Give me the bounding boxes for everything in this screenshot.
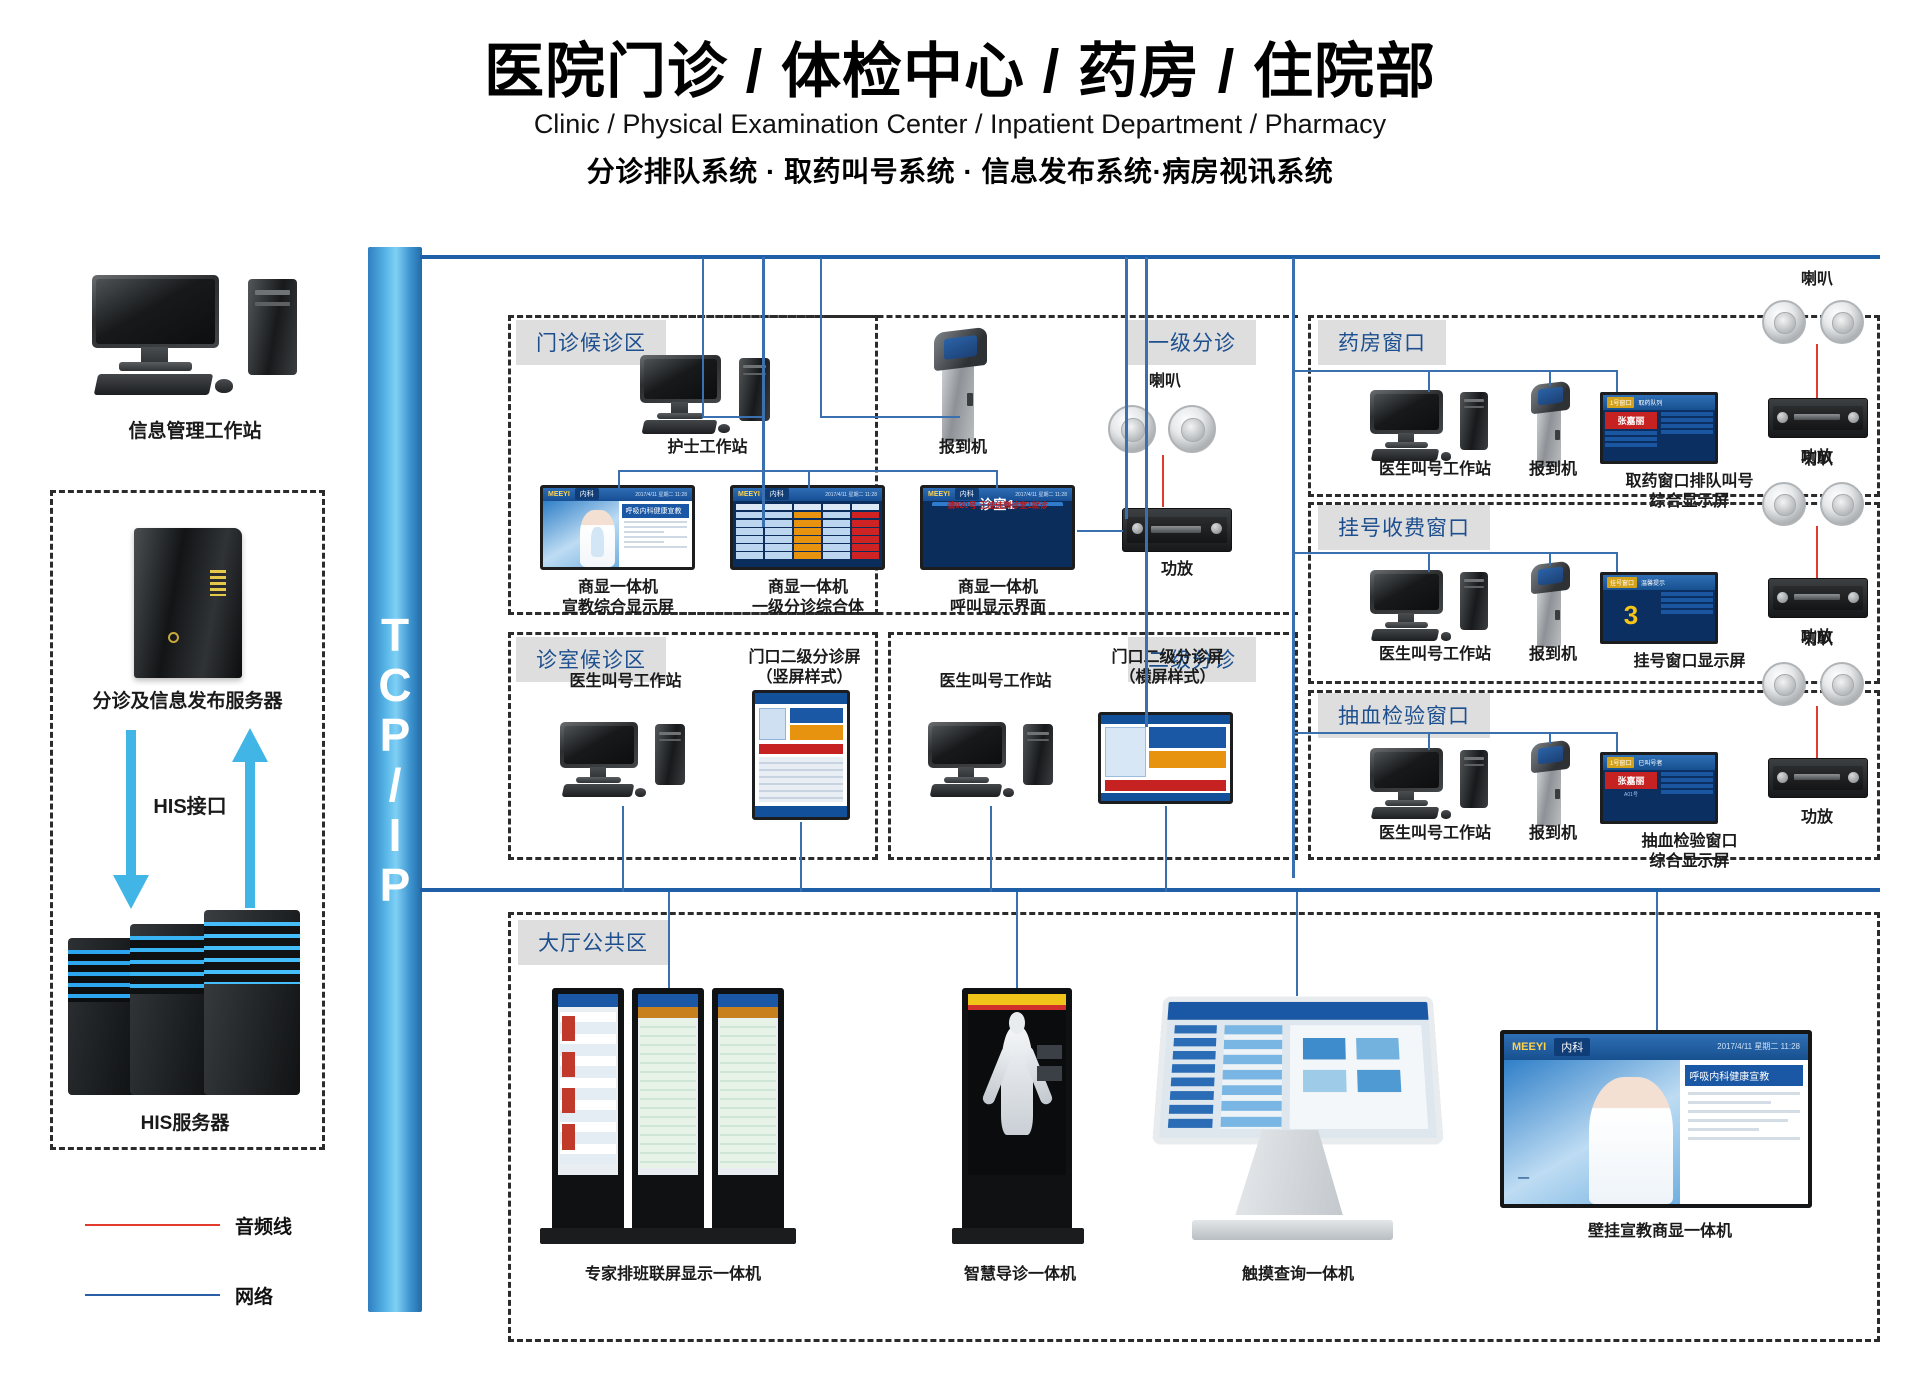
promo-headline: 呼吸内科健康宣教	[622, 504, 689, 518]
doctor-call-workstation-label-2: 医生叫号工作站	[898, 672, 1093, 692]
title-english: Clinic / Physical Examination Center / I…	[0, 109, 1920, 140]
net-line-kiosk-h	[820, 416, 960, 418]
checkin-kiosk-label-1: 报到机	[908, 438, 1018, 458]
legend-audio-line-swatch	[85, 1224, 220, 1226]
net-drop-hall-posters	[668, 892, 670, 988]
net-drop-pharmacy-pc	[1428, 370, 1430, 392]
screen-logo-1: MEEYI	[548, 491, 570, 498]
registration-display-label: 挂号窗口显示屏	[1592, 652, 1787, 672]
pharmacy-call-workstation-label: 医生叫号工作站	[1340, 460, 1530, 480]
net-line-trunk-to-kiosk	[820, 258, 822, 416]
speaker-label-registration: 喇叭	[1772, 450, 1862, 470]
net-drop-hall-guidance	[1016, 892, 1018, 988]
net-drop-bloodtest-display	[1616, 732, 1618, 752]
smart-guidance-kiosk	[962, 988, 1072, 1238]
net-line-pharmacy-branch	[1292, 370, 1618, 372]
net-line-nurse-pc-h	[702, 416, 764, 418]
speaker-icon-bloodtest-2	[1820, 662, 1864, 706]
speaker-label-bloodtest: 喇叭	[1772, 630, 1862, 650]
smart-guidance-kiosk-label: 智慧导诊一体机	[930, 1265, 1110, 1285]
speaker-icon-registration-1	[1762, 482, 1806, 526]
zone-title-pharmacy-window: 药房窗口	[1318, 320, 1446, 365]
registration-call-workstation-label: 医生叫号工作站	[1340, 645, 1530, 665]
net-drop-screen-2	[808, 470, 810, 488]
checkin-kiosk-label-bloodtest: 报到机	[1505, 824, 1601, 844]
trunk-line-bottom	[420, 888, 1880, 892]
trunk-line-top	[420, 255, 1880, 259]
net-drop-registration-pc	[1428, 552, 1430, 572]
his-arrow-up-shaft	[245, 760, 255, 908]
audio-line-registration	[1816, 526, 1818, 578]
horizontal-triage-screen	[1098, 712, 1233, 804]
diagram-canvas: 医院门诊 / 体检中心 / 药房 / 住院部 Clinic / Physical…	[0, 0, 1920, 1375]
amplifier-icon-outpatient	[1122, 508, 1232, 552]
smart-guidance-base	[952, 1228, 1084, 1244]
call-display-label-line1: 商显一体机	[898, 578, 1098, 598]
zone-title-registration-window: 挂号收费窗口	[1318, 505, 1490, 550]
net-line-trunk-to-nurse-pc	[702, 258, 704, 416]
screen-dept-1: 内科	[575, 488, 599, 500]
speaker-icon-outpatient-1	[1108, 405, 1156, 453]
net-drop-pharmacy-display	[1616, 370, 1618, 392]
net-drop-bloodtest-pc	[1428, 732, 1430, 750]
horizontal-triage-label-line1: 门口二级分诊屏	[1070, 648, 1265, 668]
his-arrow-down-head	[113, 875, 149, 909]
net-line-trunk-to-screens	[762, 257, 765, 527]
net-line-trunk-to-secondary	[1125, 257, 1128, 519]
bloodtest-window-tag: 1号窗口	[1607, 757, 1634, 768]
tcpip-backbone-label: T C P / I P	[368, 610, 422, 910]
expert-schedule-poster-2	[632, 988, 704, 1238]
bloodtest-call-workstation-icon	[1370, 748, 1488, 826]
net-drop-hall-wall	[1656, 892, 1658, 1030]
registration-call-workstation-icon	[1370, 570, 1488, 648]
promo-display-label-line2: 宣教综合显示屏	[518, 598, 718, 618]
zone-title-public-hall: 大厅公共区	[518, 920, 668, 965]
checkin-kiosk-icon-registration	[1528, 563, 1572, 647]
title-chinese: 医院门诊 / 体检中心 / 药房 / 住院部	[0, 38, 1920, 105]
amplifier-icon-bloodtest	[1768, 758, 1868, 798]
touch-query-kiosk-label: 触摸查询一体机	[1178, 1265, 1418, 1285]
horizontal-triage-label-line2: （横屏样式）	[1070, 668, 1265, 688]
triage-table-screen: MEEYI 内科 2017/4/11 星期二 11:28	[730, 485, 885, 570]
audio-line-pharmacy	[1816, 344, 1818, 398]
wall-education-screen: MEEYI 内科 2017/4/11 星期二 11:28 — 呼吸内科健康宣教	[1500, 1030, 1812, 1208]
bloodtest-display-label-line1: 抽血检验窗口	[1592, 832, 1787, 852]
checkin-kiosk-icon-pharmacy	[1528, 383, 1572, 467]
promo-display-screen: MEEYI 内科 2017/4/11 星期二 11:28 呼吸内科健康宣教	[540, 485, 695, 570]
his-arrow-up-head	[232, 728, 268, 762]
doctor-call-workstation-icon-2	[928, 722, 1053, 804]
legend-network-line-label: 网络	[235, 1282, 273, 1309]
vertical-triage-label-line2: （竖屏样式）	[722, 668, 887, 688]
screen-logo-2: MEEYI	[738, 491, 760, 498]
amplifier-icon-registration	[1768, 578, 1868, 618]
net-drop-registration-kiosk	[1549, 552, 1551, 566]
triage-server-label: 分诊及信息发布服务器	[45, 690, 330, 714]
bloodtest-highlight-name: 张嘉丽	[1605, 772, 1657, 789]
pharmacy-window-tag: 1号窗口	[1607, 397, 1634, 408]
net-line-doctor-pc-2-down	[990, 806, 992, 892]
touch-query-kiosk	[1158, 990, 1438, 1240]
backbone-char-slash: /	[368, 760, 422, 810]
amplifier-icon-pharmacy	[1768, 398, 1868, 438]
backbone-char-p2: P	[368, 860, 422, 910]
pharmacy-display-label-line1: 取药窗口排队叫号	[1592, 472, 1787, 492]
screen-dept-2: 内科	[765, 488, 789, 500]
net-line-trunk-to-triage2	[1145, 257, 1148, 727]
screen-time-1: 2017/4/11 星期二 11:28	[635, 491, 687, 498]
pharmacy-highlight-name: 张嘉丽	[1605, 412, 1657, 429]
speaker-label-pharmacy: 喇叭	[1772, 270, 1862, 290]
amplifier-label-bloodtest: 功放	[1772, 808, 1862, 828]
registration-queue-display-screen: 挂号窗口 温馨提示 3	[1600, 572, 1718, 644]
screen-time-2: 2017/4/11 星期二 11:28	[825, 491, 877, 498]
expert-schedule-poster-1	[552, 988, 624, 1238]
net-drop-screen-3	[996, 470, 998, 488]
net-line-bloodtest-branch	[1292, 732, 1618, 734]
checkin-kiosk-label-registration: 报到机	[1505, 645, 1601, 665]
his-server-label: HIS服务器	[60, 1112, 310, 1136]
speaker-icon-bloodtest-1	[1762, 662, 1806, 706]
registration-window-note: 温馨提示	[1641, 578, 1665, 587]
call-display-label-line2: 呼叫显示界面	[898, 598, 1098, 618]
vertical-triage-label-line1: 门口二级分诊屏	[722, 648, 887, 668]
registration-window-tag: 挂号窗口	[1607, 577, 1637, 588]
pharmacy-queue-display-screen: 1号窗口 取药队列 张嘉丽	[1600, 392, 1718, 464]
bloodtest-call-workstation-label: 医生叫号工作站	[1340, 824, 1530, 844]
his-server-icon	[68, 910, 303, 1095]
speaker-icon-pharmacy-2	[1820, 300, 1864, 344]
net-line-doctor-pc-1-down	[622, 806, 624, 892]
checkin-kiosk-icon-1	[930, 330, 990, 442]
net-line-horizontal-screen-down	[1165, 806, 1167, 892]
net-line-registration-branch	[1292, 552, 1618, 554]
net-line-right-column-riser	[1292, 258, 1295, 878]
info-management-workstation-label: 信息管理工作站	[60, 420, 330, 444]
net-drop-pharmacy-kiosk	[1549, 370, 1551, 386]
bloodtest-sub-number: A01号	[1605, 791, 1657, 798]
net-drop-registration-display	[1616, 552, 1618, 572]
vertical-triage-screen	[752, 690, 850, 820]
registration-current-number: 3	[1605, 602, 1657, 628]
expert-poster-base	[540, 1228, 796, 1244]
triage-server-icon	[134, 528, 242, 678]
speaker-label-outpatient: 喇叭	[1120, 372, 1210, 392]
net-drop-screen-1	[618, 470, 620, 488]
net-line-call-to-amp	[1077, 530, 1123, 532]
nurse-workstation-icon	[640, 355, 770, 441]
screen-logo-3: MEEYI	[928, 491, 950, 498]
pharmacy-queue-title: 取药队列	[1638, 398, 1662, 407]
legend-audio-line-label: 音频线	[235, 1212, 292, 1239]
backbone-char-i: I	[368, 810, 422, 860]
expert-schedule-poster-3	[712, 988, 784, 1238]
speaker-icon-pharmacy-1	[1762, 300, 1806, 344]
call-message: 请020号·王佳佳到诊室1就诊	[932, 504, 1063, 506]
title-subtitle: 分诊排队系统 · 取药叫号系统 · 信息发布系统·病房视讯系统	[0, 150, 1920, 190]
promo-display-label-line1: 商显一体机	[518, 578, 718, 598]
bloodtest-queue-title: 已叫号者	[1638, 758, 1662, 767]
nurse-workstation-label: 护士工作站	[620, 438, 795, 458]
checkin-kiosk-icon-bloodtest	[1528, 742, 1572, 826]
backbone-char-c: C	[368, 660, 422, 710]
doctor-call-workstation-label-1: 医生叫号工作站	[528, 672, 723, 692]
his-interface-label: HIS接口	[110, 795, 270, 821]
net-drop-hall-touch	[1296, 892, 1298, 996]
triage-table-label-line1: 商显一体机	[708, 578, 908, 598]
expert-schedule-poster-label: 专家排班联屏显示一体机	[528, 1265, 818, 1285]
triage-table-label-line2: 一级分诊综合体	[708, 598, 908, 618]
wall-education-screen-label: 壁挂宣教商显一体机	[1540, 1222, 1780, 1242]
wall-screen-logo: MEEYI	[1512, 1041, 1546, 1053]
net-drop-bloodtest-kiosk	[1549, 732, 1551, 744]
net-line-vertical-screen-down	[800, 822, 802, 892]
wall-screen-headline: 呼吸内科健康宣教	[1685, 1065, 1803, 1086]
bloodtest-queue-display-screen: 1号窗口 已叫号者 张嘉丽 A01号	[1600, 752, 1718, 824]
wall-screen-dept: 内科	[1554, 1038, 1590, 1056]
call-display-screen: MEEYI 内科 2017/4/11 星期二 11:28 诊室1 请020号·王…	[920, 485, 1075, 570]
page-title: 医院门诊 / 体检中心 / 药房 / 住院部 Clinic / Physical…	[0, 38, 1920, 190]
screen-dept-3: 内科	[955, 488, 979, 500]
screen-time-3: 2017/4/11 星期二 11:28	[1015, 491, 1067, 498]
legend-network-line-swatch	[85, 1294, 220, 1296]
speaker-icon-outpatient-2	[1168, 405, 1216, 453]
speaker-icon-registration-2	[1820, 482, 1864, 526]
info-management-workstation-icon	[92, 275, 297, 405]
backbone-char-t: T	[368, 610, 422, 660]
doctor-call-workstation-icon-1	[560, 722, 685, 804]
audio-line-outpatient-vertical	[1162, 455, 1164, 507]
audio-line-bloodtest	[1816, 706, 1818, 758]
pharmacy-call-workstation-icon	[1370, 390, 1488, 468]
checkin-kiosk-label-pharmacy: 报到机	[1505, 460, 1601, 480]
bloodtest-display-label-line2: 综合显示屏	[1592, 852, 1787, 872]
wall-screen-time: 2017/4/11 星期二 11:28	[1717, 1041, 1800, 1052]
backbone-char-p: P	[368, 710, 422, 760]
